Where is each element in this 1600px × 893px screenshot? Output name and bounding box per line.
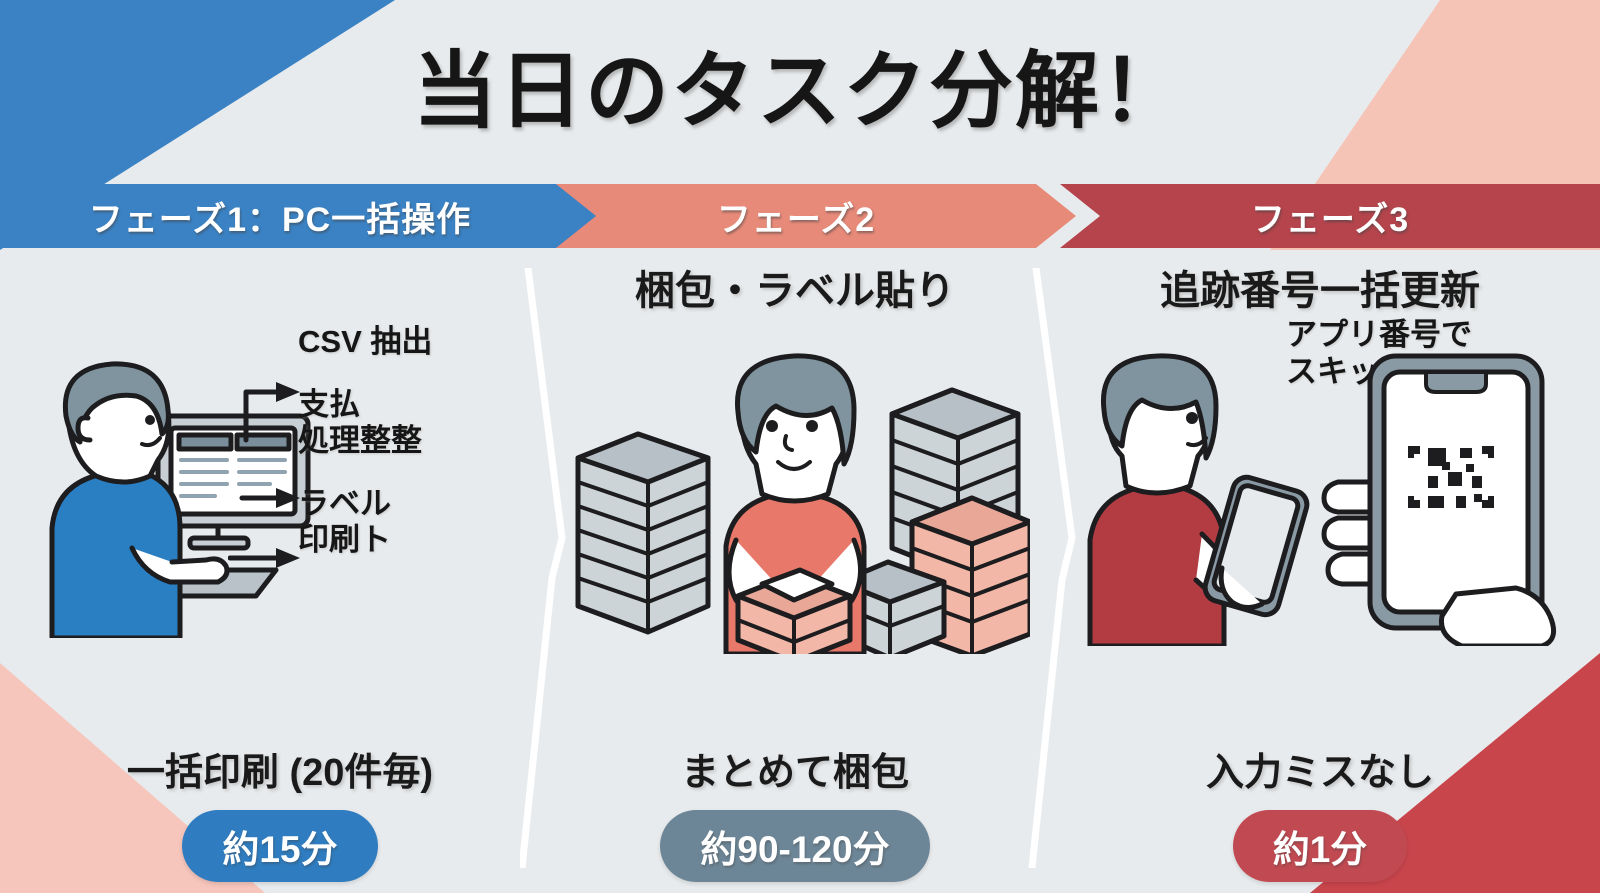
phase-banner-2: フェーズ2	[556, 184, 1076, 248]
phase-1-bullet-list: CSV 抽出 支払 処理整整 ラベル 印刷ト	[298, 324, 538, 585]
phase-banner-3-label: フェーズ3	[1251, 192, 1409, 241]
page-title: 当日のタスク分解！	[0, 24, 1600, 145]
phase-2-summary: まとめて梱包 約90-120分	[560, 741, 1030, 882]
bullet-3-line-1: ラベル	[298, 486, 391, 523]
phase-1-illustration: CSV 抽出 支払 処理整整 ラベル 印刷ト	[20, 320, 540, 650]
list-item: CSV 抽出	[298, 324, 538, 361]
phase-banner-1-label: フェーズ1：PC一括操作	[89, 192, 471, 241]
phase-3-illustration: アプリ番号で スキップロード	[1060, 320, 1580, 650]
bullet-1-line-1: CSV 抽出	[298, 324, 432, 361]
bullet-2-line-2: 処理整整	[298, 423, 422, 460]
phase-2-illustration	[560, 320, 1030, 650]
list-item: ラベル 印刷ト	[298, 486, 538, 559]
phase-3-duration-badge: 約1分	[1233, 810, 1408, 882]
phase-3-caption: 入力ミスなし	[1060, 741, 1580, 796]
phase-1-summary: 一括印刷 (20件毎) 約15分	[20, 741, 540, 882]
bullet-3-line-2: 印刷ト	[298, 522, 391, 559]
phase-2-caption: まとめて梱包	[560, 741, 1030, 796]
phase-2-subheading: 梱包・ラベル貼り	[560, 262, 1030, 320]
phase-2-duration-badge: 約90-120分	[660, 810, 929, 882]
phase-1-caption: 一括印刷 (20件毎)	[20, 741, 540, 796]
phase-1-duration-badge: 約15分	[182, 810, 377, 882]
phase-column-1: CSV 抽出 支払 処理整整 ラベル 印刷ト 一括印刷	[20, 262, 540, 882]
phase-banner-1: フェーズ1：PC一括操作	[0, 184, 600, 248]
phase-banner-2-label: フェーズ2	[717, 192, 875, 241]
phase-3-subheading: 追跡番号一括更新	[1060, 262, 1580, 320]
bullet-2-line-1: 支払	[298, 387, 422, 424]
phase-column-3: 追跡番号一括更新 アプリ番号で スキップロード	[1060, 262, 1580, 882]
infographic-canvas: 当日のタスク分解！ フェーズ1：PC一括操作 フェーズ2 フェーズ3	[0, 0, 1600, 893]
list-item: 支払 処理整整	[298, 387, 538, 460]
phase-3-summary: 入力ミスなし 約1分	[1060, 741, 1580, 882]
phase-banner-3: フェーズ3	[1060, 184, 1600, 248]
phase-ribbon: フェーズ1：PC一括操作 フェーズ2 フェーズ3	[0, 184, 1600, 248]
phase-column-2: 梱包・ラベル貼り	[560, 262, 1030, 882]
